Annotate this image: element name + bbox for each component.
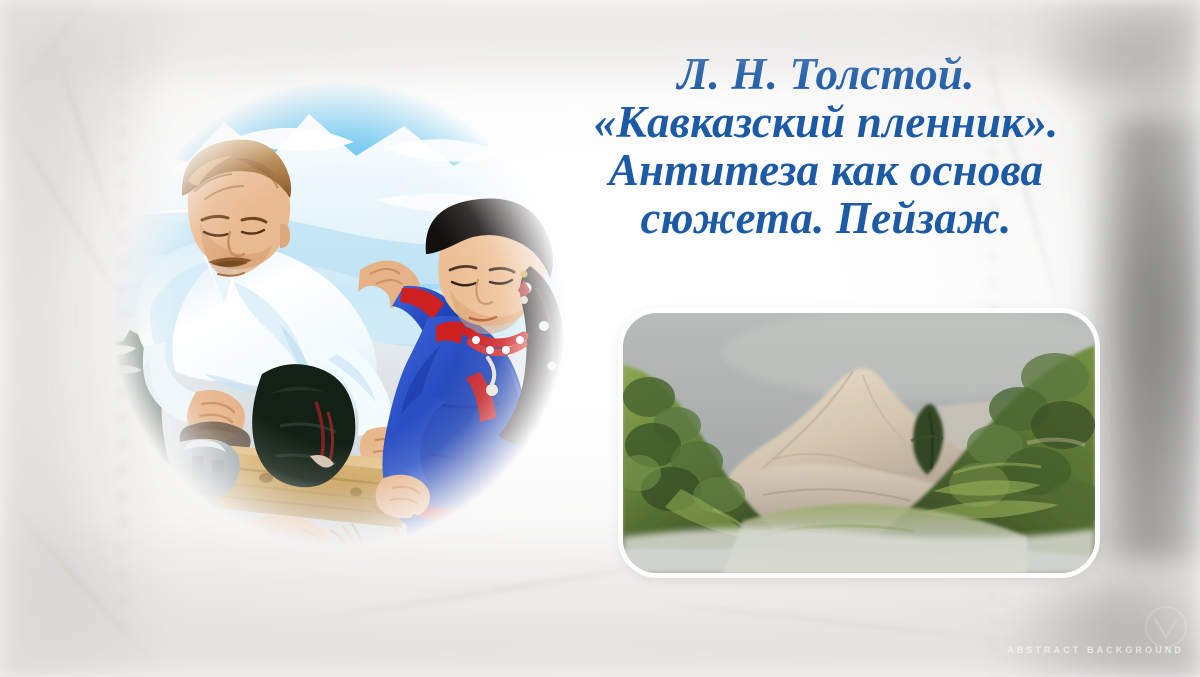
title-line-2: «Кавказский пленник». bbox=[548, 98, 1104, 146]
title-line-3: Антитеза как основа bbox=[548, 146, 1104, 194]
watermark-logo-icon bbox=[1144, 605, 1188, 649]
presentation-slide: Л. Н. Толстой. «Кавказский пленник». Ант… bbox=[0, 0, 1200, 677]
watermark-text: ABSTRACT BACKGROUND bbox=[1007, 645, 1184, 655]
caucasus-landscape-photo bbox=[623, 313, 1095, 573]
page-title: Л. Н. Толстой. «Кавказский пленник». Ант… bbox=[548, 50, 1104, 243]
title-line-1: Л. Н. Толстой. bbox=[548, 50, 1104, 98]
title-line-4: сюжета. Пейзаж. bbox=[548, 194, 1104, 242]
zhilin-and-dina-illustration bbox=[84, 74, 594, 574]
